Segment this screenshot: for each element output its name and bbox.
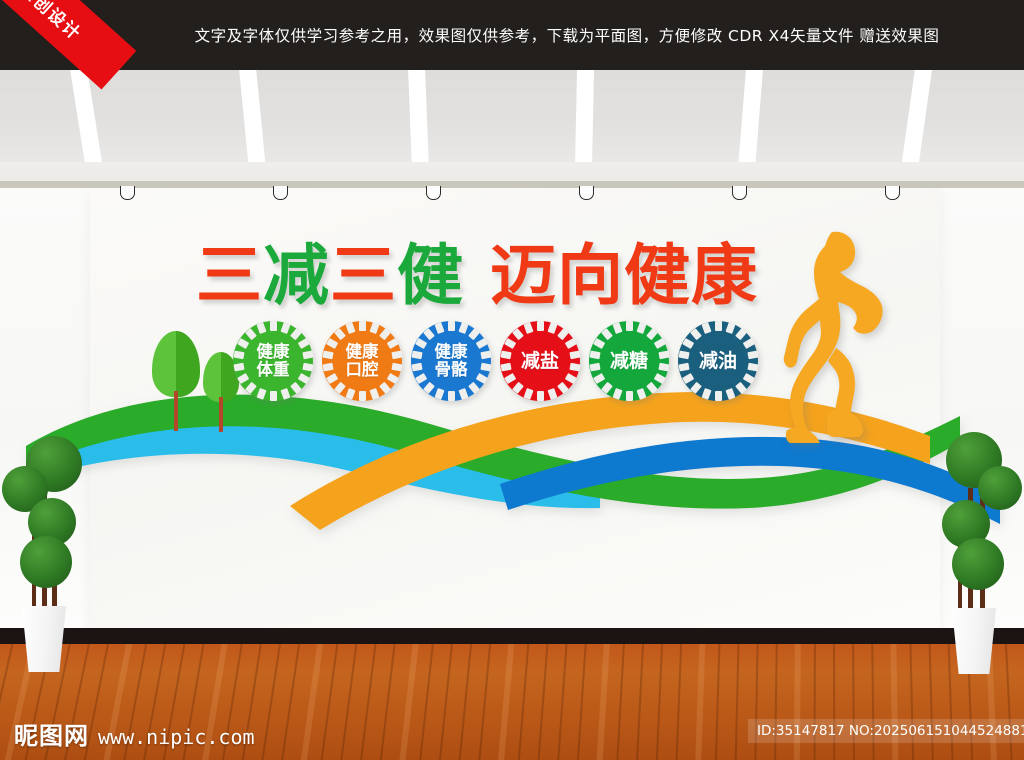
badge-ring-tick [233,351,244,360]
badge-ring-tick [369,388,379,400]
floor-plank [734,644,740,760]
badge-ring-tick [653,373,665,384]
badge-ring-tick [270,321,277,331]
badge-ring-tick [468,382,480,394]
badge-ring-tick [391,351,402,360]
floor-plank [395,644,421,760]
potted-plant-left [2,418,98,668]
badge-ring-tick [415,338,427,349]
badge-ring-tick [386,338,398,349]
badge-ring-tick [658,351,669,360]
badge-ring-tick [411,351,422,360]
badge-ring-tick [434,322,444,334]
floor-plank [335,644,360,760]
badge-ring-tick [448,391,455,401]
badge-ring-tick [379,328,391,340]
badge-ring-tick [747,363,758,372]
badge-ring-tick [480,351,491,360]
ceiling [0,70,1024,162]
floor-plank [674,644,683,760]
badge-ring-tick [334,382,346,394]
floor-plank [375,644,398,760]
floor-plank [514,644,531,760]
disclaimer-bar: 文字及字体仅供学习参考之用，效果图仅供参考，下载为平面图，方便修改 CDR X4… [0,0,1024,70]
floor-plank [355,644,379,760]
badge-label: 健康体重 [257,343,290,379]
title-char-2: 健 [624,237,691,314]
floor-plank [714,644,721,760]
badge-ring-tick [735,382,747,394]
badge-ring-tick [245,382,257,394]
badge-ring-tick [256,388,266,400]
badge-ring-tick [475,373,487,384]
floor-plank [554,644,569,760]
badge-ring-tick [480,363,491,372]
badge-ring-tick [423,328,435,340]
badge-ring-tick [326,338,338,349]
badge-ring-tick [270,391,277,401]
floor-plank [534,644,550,760]
badge-ring-tick [682,338,694,349]
badge-ring-tick [411,363,422,372]
badge-ring-tick [326,373,338,384]
title-char-1: 减 [263,237,330,314]
title-char-3: 康 [691,237,758,314]
poster-mockup-scene: 三减三健迈向健康 健康体重健康口腔健康骨骼减盐减糖减油 文字及字体仅供 [0,0,1024,760]
badge-ring-tick [237,338,249,349]
potted-plant-right [930,418,1024,668]
badge-ring-tick [537,321,544,331]
title-char-3: 健 [397,237,464,314]
badge-ring-tick [589,363,600,372]
badge-ring-tick [646,382,658,394]
badge-ring-tick [557,382,569,394]
badge-reduce-sugar[interactable]: 减糖 [589,321,669,401]
planter-right [950,608,998,674]
badge-ring-tick [245,328,257,340]
badge-label: 减油 [699,351,737,371]
page-title: 三减三健迈向健康 [196,243,758,309]
badge-ring-tick [742,373,754,384]
badge-ring-tick [636,322,646,334]
floor-plank [275,644,303,760]
badge-ring-tick [569,351,580,360]
planter-left [20,606,68,672]
ceiling-light-strip [575,70,594,162]
badge-ring-tick [701,322,711,334]
badge-ring-tick [612,388,622,400]
badge-ring-tick [504,338,516,349]
badge-ring-tick [423,382,435,394]
runner-silhouette-icon [770,228,890,443]
badge-ring-tick [391,363,402,372]
badge-ring-tick [468,328,480,340]
title-char-0: 三 [196,237,263,314]
floor-plank [295,644,326,760]
floor-plank [694,644,706,760]
badge-label: 健康口腔 [346,343,379,379]
floor-plank [474,644,493,760]
badge-ring-tick [475,338,487,349]
title-phrase-1: 三减三健 [196,237,464,314]
badge-ring-tick [682,373,694,384]
badge-ring-tick [636,388,646,400]
badge-ring-tick [523,322,533,334]
badge-healthy-bones[interactable]: 健康骨骼 [411,321,491,401]
badge-ring-tick [233,363,244,372]
tree-large [152,331,200,431]
badge-reduce-oil[interactable]: 减油 [678,321,758,401]
badge-ring-tick [322,351,333,360]
floor-plank [654,644,664,760]
badge-ring-tick [359,391,366,401]
watermark-site-name: 昵图网 [14,716,89,751]
floor-plank [255,644,284,760]
floor-plank [415,644,436,760]
badge-ring-tick [725,322,735,334]
badge-healthy-mouth[interactable]: 健康口腔 [322,321,402,401]
badge-ring-tick [523,388,533,400]
badge-ring-tick [322,363,333,372]
badge-ring-tick [280,322,290,334]
floor-plank [574,644,588,760]
disclaimer-text: 文字及字体仅供学习参考之用，效果图仅供参考，下载为平面图，方便修改 CDR X4… [0,0,1024,70]
badge-ring-tick [690,382,702,394]
badge-ring-tick [626,321,633,331]
ceiling-light-strip [239,70,267,162]
badge-healthy-weight[interactable]: 健康体重 [233,321,313,401]
badge-ring-tick [290,382,302,394]
badge-ring-tick [557,328,569,340]
badge-ring-tick [500,351,511,360]
badge-ring-tick [690,328,702,340]
badge-ring-tick [359,321,366,331]
badge-label: 减盐 [521,351,559,371]
badge-ring-tick [297,338,309,349]
badge-group: 健康体重健康口腔健康骨骼减盐减糖减油 [233,321,758,401]
badge-ring-tick [302,351,313,360]
badge-ring-tick [290,328,302,340]
badge-ring-tick [415,373,427,384]
watermark-logo[interactable]: 昵图网 www.nipic.com [14,716,255,751]
badge-ring-tick [386,373,398,384]
badge-ring-tick [747,351,758,360]
badge-ring-tick [458,388,468,400]
badge-ring-tick [735,328,747,340]
badge-ring-tick [715,321,722,331]
badge-ring-tick [564,338,576,349]
badge-label: 健康骨骼 [435,343,468,379]
badge-ring-tick [612,322,622,334]
badge-ring-tick [500,363,511,372]
badge-ring-tick [715,391,722,401]
badge-ring-tick [297,373,309,384]
ceiling-light-strip [738,70,764,162]
badge-ring-tick [678,363,689,372]
title-char-0: 迈 [490,237,557,314]
badge-ring-tick [593,338,605,349]
badge-ring-tick [653,338,665,349]
floor-plank [594,644,611,760]
title-phrase-2: 迈向健康 [490,237,758,314]
floor-plank [614,644,626,760]
badge-ring-tick [345,388,355,400]
floor-plank [634,644,645,760]
badge-ring-tick [547,388,557,400]
badge-ring-tick [256,322,266,334]
badge-ring-tick [589,351,600,360]
badge-ring-tick [658,363,669,372]
badge-ring-tick [434,388,444,400]
badge-ring-tick [369,322,379,334]
ceiling-light-strip [408,70,429,162]
floor-plank [435,644,455,760]
badge-ring-tick [458,322,468,334]
badge-label: 减糖 [610,351,648,371]
badge-ring-tick [280,388,290,400]
title-char-2: 三 [330,237,397,314]
badge-ring-tick [512,328,524,340]
badge-ring-tick [504,373,516,384]
floor-plank [494,644,516,760]
badge-ring-tick [601,328,613,340]
badge-ring-tick [564,373,576,384]
watermark-id-badge: ID:35147817 NO:20250615104452488104 [748,719,1024,743]
badge-ring-tick [646,328,658,340]
badge-ring-tick [547,322,557,334]
badge-ring-tick [725,388,735,400]
badge-ring-tick [601,382,613,394]
watermark-site-url: www.nipic.com [98,725,255,749]
lighting-rail [0,181,1024,188]
badge-ring-tick [569,363,580,372]
badge-ring-tick [742,338,754,349]
badge-ring-tick [334,328,346,340]
badge-ring-tick [537,391,544,401]
badge-ring-tick [678,351,689,360]
badge-ring-tick [593,373,605,384]
badge-ring-tick [512,382,524,394]
ceiling-light-strip [900,70,932,162]
title-char-1: 向 [557,237,624,314]
badge-ring-tick [626,391,633,401]
badge-ring-tick [379,382,391,394]
badge-ring-tick [237,373,249,384]
badge-reduce-salt[interactable]: 减盐 [500,321,580,401]
badge-ring-tick [448,321,455,331]
badge-ring-tick [302,363,313,372]
badge-ring-tick [345,322,355,334]
badge-ring-tick [701,388,711,400]
floor-plank [454,644,474,760]
